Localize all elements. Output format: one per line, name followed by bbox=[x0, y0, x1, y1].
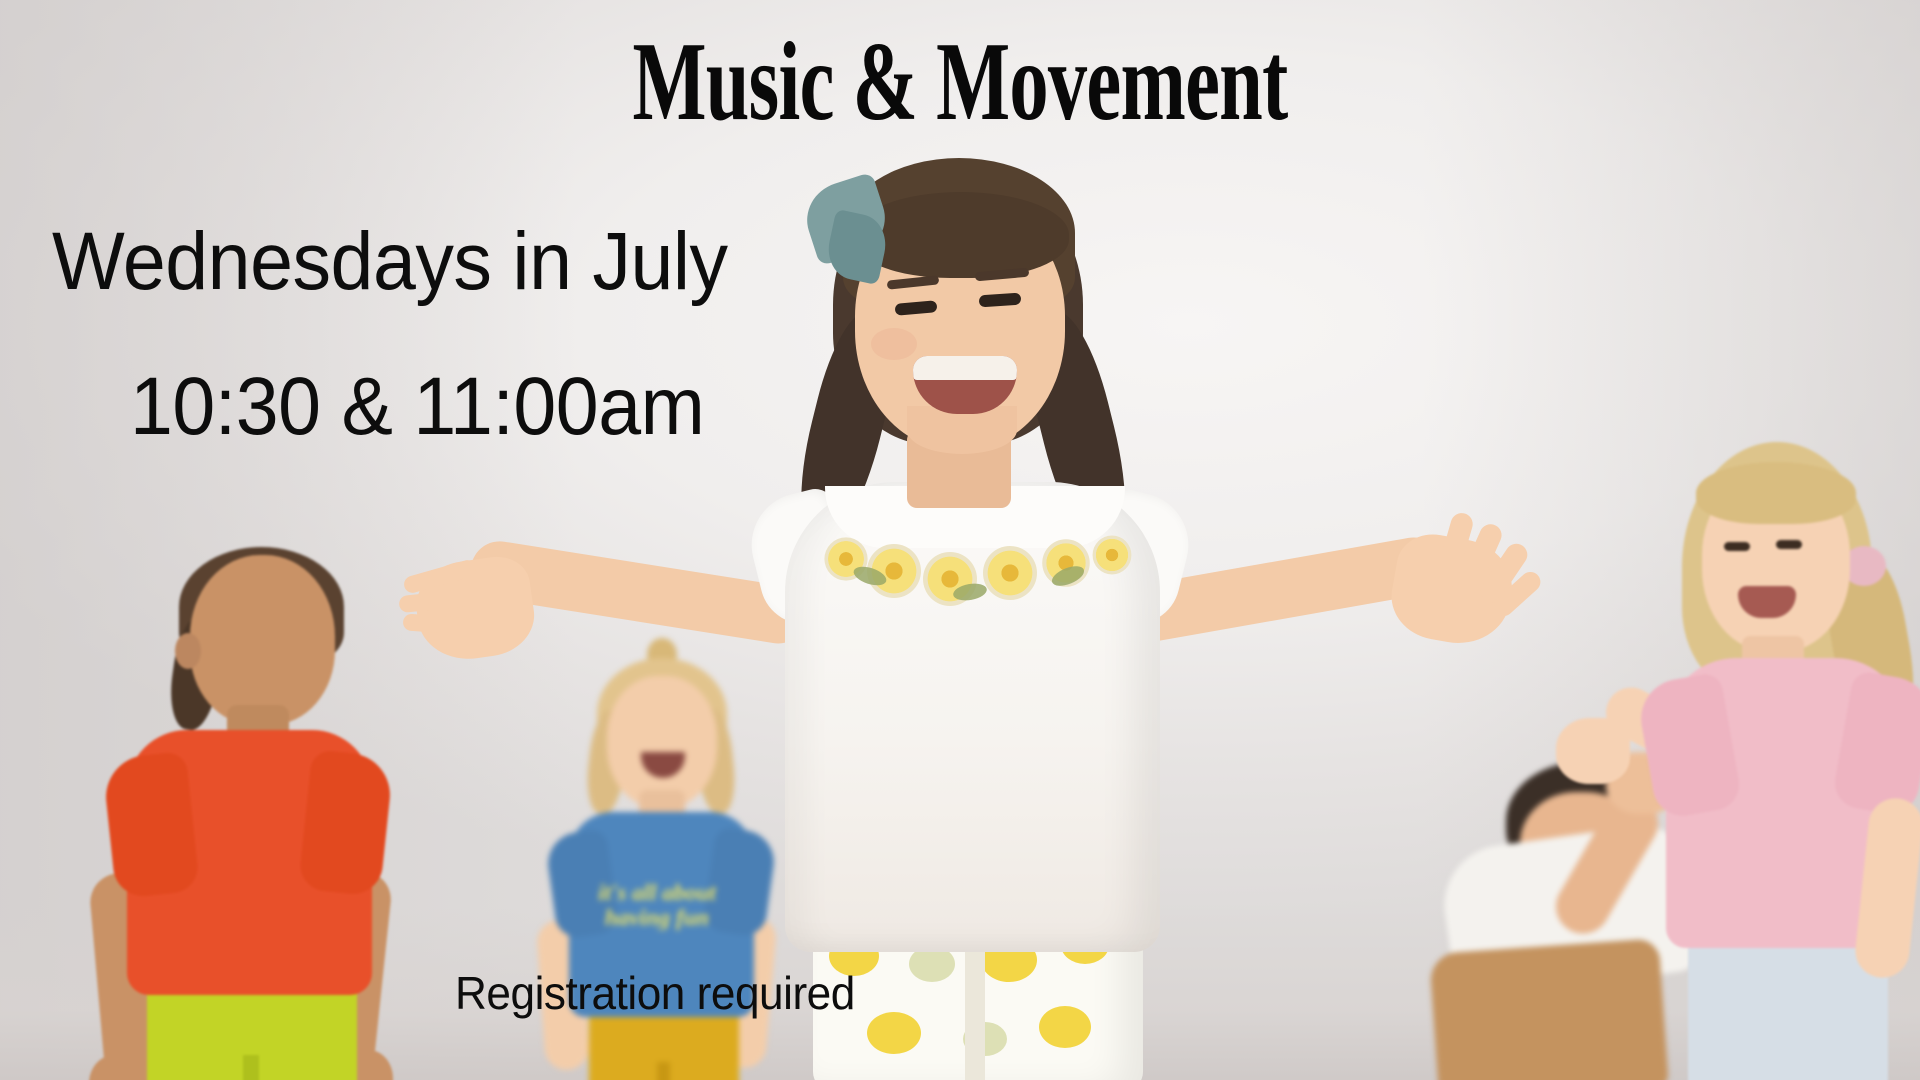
event-time-line: 10:30 & 11:00am bbox=[130, 366, 704, 448]
registration-note: Registration required bbox=[455, 970, 855, 1016]
event-date-line: Wednesdays in July bbox=[52, 221, 728, 303]
text-overlay: Music & Movement Wednesdays in July 10:3… bbox=[0, 0, 1920, 1080]
page-title: Music & Movement bbox=[288, 26, 1632, 138]
event-poster: it's all about having fun bbox=[0, 0, 1920, 1080]
